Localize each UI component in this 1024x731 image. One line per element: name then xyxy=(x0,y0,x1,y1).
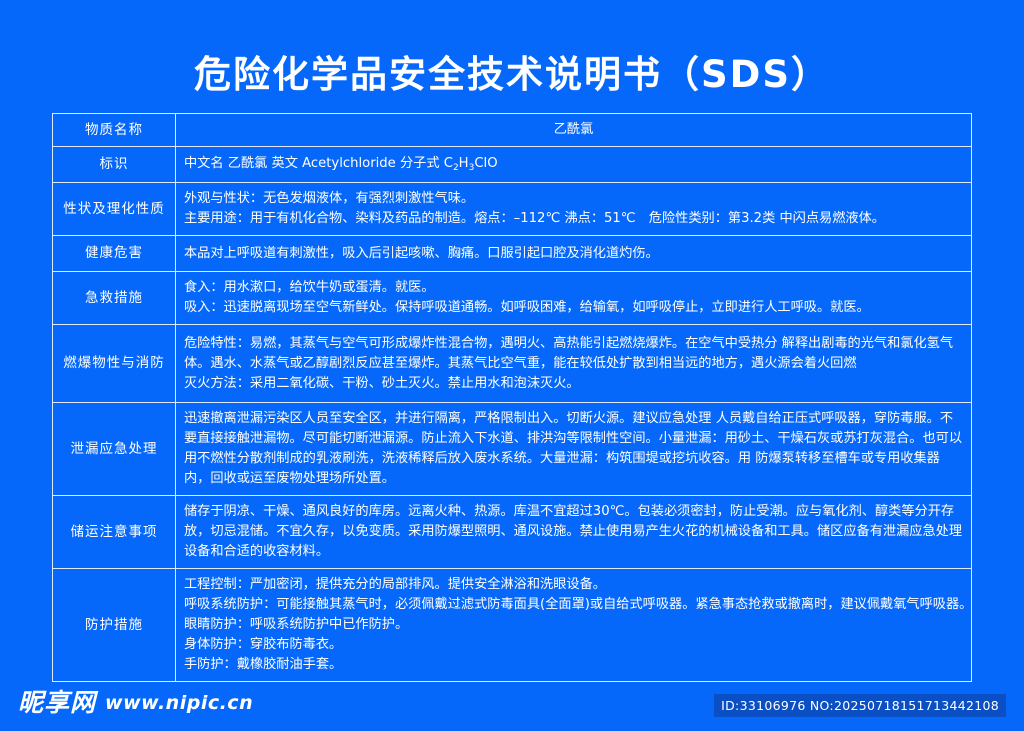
row-label-protective-measures: 防护措施 xyxy=(53,569,176,682)
table-row: 储运注意事项 储存于阴凉、干燥、通风良好的库房。远离火种、热源。库温不宜超过30… xyxy=(53,496,972,569)
text-line: 外观与性状：无色发烟液体，有强烈刺激性气味。 xyxy=(184,189,971,209)
table-row: 燃爆物性与消防 危险特性：易燃，其蒸气与空气可形成爆炸性混合物，遇明火、高热能引… xyxy=(53,325,972,403)
text-line: 本品对上呼吸道有刺激性，吸入后引起咳嗽、胸痛。口服引起口腔及消化道灼伤。 xyxy=(184,244,971,264)
table-row: 泄漏应急处理 迅速撤离泄漏污染区人员至安全区，并进行隔离，严格限制出入。切断火源… xyxy=(53,403,972,496)
row-label-first-aid: 急救措施 xyxy=(53,272,176,325)
row-value-identification: 中文名 乙酰氯 英文 Acetylchloride 分子式 C2H3ClO xyxy=(176,147,972,183)
watermark: 昵享网 www.nipic.cn xyxy=(18,688,253,718)
text-line: 迅速撤离泄漏污染区人员至安全区，并进行隔离，严格限制出入。切断火源。建议应急处理… xyxy=(184,409,971,489)
row-label-health-hazard: 健康危害 xyxy=(53,236,176,272)
row-label-storage-transport: 储运注意事项 xyxy=(53,496,176,569)
formula-suffix: ClO xyxy=(474,156,497,171)
row-label-substance-name: 物质名称 xyxy=(53,114,176,147)
formula-sub-1: 2 xyxy=(453,163,459,173)
text-line: 乙酰氯 xyxy=(176,120,971,140)
table-row: 性状及理化性质 外观与性状：无色发烟液体，有强烈刺激性气味。 主要用途：用于有机… xyxy=(53,183,972,236)
row-value-fire-explosion: 危险特性：易燃，其蒸气与空气可形成爆炸性混合物，遇明火、高热能引起燃烧爆炸。在空… xyxy=(176,325,972,403)
text-line: 食入：用水漱口，给饮牛奶或蛋清。就医。 xyxy=(184,278,971,298)
table-row: 防护措施 工程控制：严加密闭，提供充分的局部排风。提供安全淋浴和洗眼设备。 呼吸… xyxy=(53,569,972,682)
text-line: 身体防护：穿胶布防毒衣。 xyxy=(184,635,971,655)
watermark-url: www.nipic.cn xyxy=(105,688,253,718)
formula-sub-2: 3 xyxy=(469,163,475,173)
row-value-physical-properties: 外观与性状：无色发烟液体，有强烈刺激性气味。 主要用途：用于有机化合物、染料及药… xyxy=(176,183,972,236)
id-code-badge: ID:33106976 NO:20250718151713442108 xyxy=(714,694,1006,717)
text-line: 中文名 乙酰氯 英文 Acetylchloride 分子式 C2H3ClO xyxy=(184,154,971,175)
formula-prefix: 中文名 乙酰氯 英文 Acetylchloride 分子式 C xyxy=(184,156,453,171)
text-line: 眼睛防护：呼吸系统防护中已作防护。 xyxy=(184,615,971,635)
text-line: 手防护：戴橡胶耐油手套。 xyxy=(184,655,971,675)
text-line: 危险特性：易燃，其蒸气与空气可形成爆炸性混合物，遇明火、高热能引起燃烧爆炸。在空… xyxy=(184,334,971,374)
table-row: 标识 中文名 乙酰氯 英文 Acetylchloride 分子式 C2H3ClO xyxy=(53,147,972,183)
row-label-identification: 标识 xyxy=(53,147,176,183)
row-label-physical-properties: 性状及理化性质 xyxy=(53,183,176,236)
row-value-health-hazard: 本品对上呼吸道有刺激性，吸入后引起咳嗽、胸痛。口服引起口腔及消化道灼伤。 xyxy=(176,236,972,272)
sds-poster: 危险化学品安全技术说明书（SDS） 物质名称 乙酰氯 标识 中文名 乙酰氯 英文… xyxy=(0,0,1024,731)
row-value-first-aid: 食入：用水漱口，给饮牛奶或蛋清。就医。 吸入：迅速脱离现场至空气新鲜处。保持呼吸… xyxy=(176,272,972,325)
table-row: 急救措施 食入：用水漱口，给饮牛奶或蛋清。就医。 吸入：迅速脱离现场至空气新鲜处… xyxy=(53,272,972,325)
text-line: 主要用途：用于有机化合物、染料及药品的制造。熔点：–112℃ 沸点：51℃ 危险… xyxy=(184,209,971,229)
table-row: 物质名称 乙酰氯 xyxy=(53,114,972,147)
row-value-substance-name: 乙酰氯 xyxy=(176,114,972,147)
sds-table: 物质名称 乙酰氯 标识 中文名 乙酰氯 英文 Acetylchloride 分子… xyxy=(52,113,972,682)
row-label-fire-explosion: 燃爆物性与消防 xyxy=(53,325,176,403)
table-row: 健康危害 本品对上呼吸道有刺激性，吸入后引起咳嗽、胸痛。口服引起口腔及消化道灼伤… xyxy=(53,236,972,272)
row-label-leak-emergency: 泄漏应急处理 xyxy=(53,403,176,496)
row-value-protective-measures: 工程控制：严加密闭，提供充分的局部排风。提供安全淋浴和洗眼设备。 呼吸系统防护：… xyxy=(176,569,972,682)
row-value-storage-transport: 储存于阴凉、干燥、通风良好的库房。远离火种、热源。库温不宜超过30℃。包装必须密… xyxy=(176,496,972,569)
text-line: 灭火方法：采用二氧化碳、干粉、砂土灭火。禁止用水和泡沫灭火。 xyxy=(184,374,971,394)
formula-mid: H xyxy=(459,156,469,171)
row-value-leak-emergency: 迅速撤离泄漏污染区人员至安全区，并进行隔离，严格限制出入。切断火源。建议应急处理… xyxy=(176,403,972,496)
text-line: 吸入：迅速脱离现场至空气新鲜处。保持呼吸道通畅。如呼吸困难，给输氧，如呼吸停止，… xyxy=(184,298,971,318)
watermark-logo-text: 昵享网 xyxy=(18,688,96,718)
text-line: 工程控制：严加密闭，提供充分的局部排风。提供安全淋浴和洗眼设备。 xyxy=(184,575,971,595)
text-line: 呼吸系统防护：可能接触其蒸气时，必须佩戴过滤式防毒面具(全面罩)或自给式呼吸器。… xyxy=(184,595,971,615)
text-line: 储存于阴凉、干燥、通风良好的库房。远离火种、热源。库温不宜超过30℃。包装必须密… xyxy=(184,502,971,562)
page-title: 危险化学品安全技术说明书（SDS） xyxy=(0,52,1024,98)
